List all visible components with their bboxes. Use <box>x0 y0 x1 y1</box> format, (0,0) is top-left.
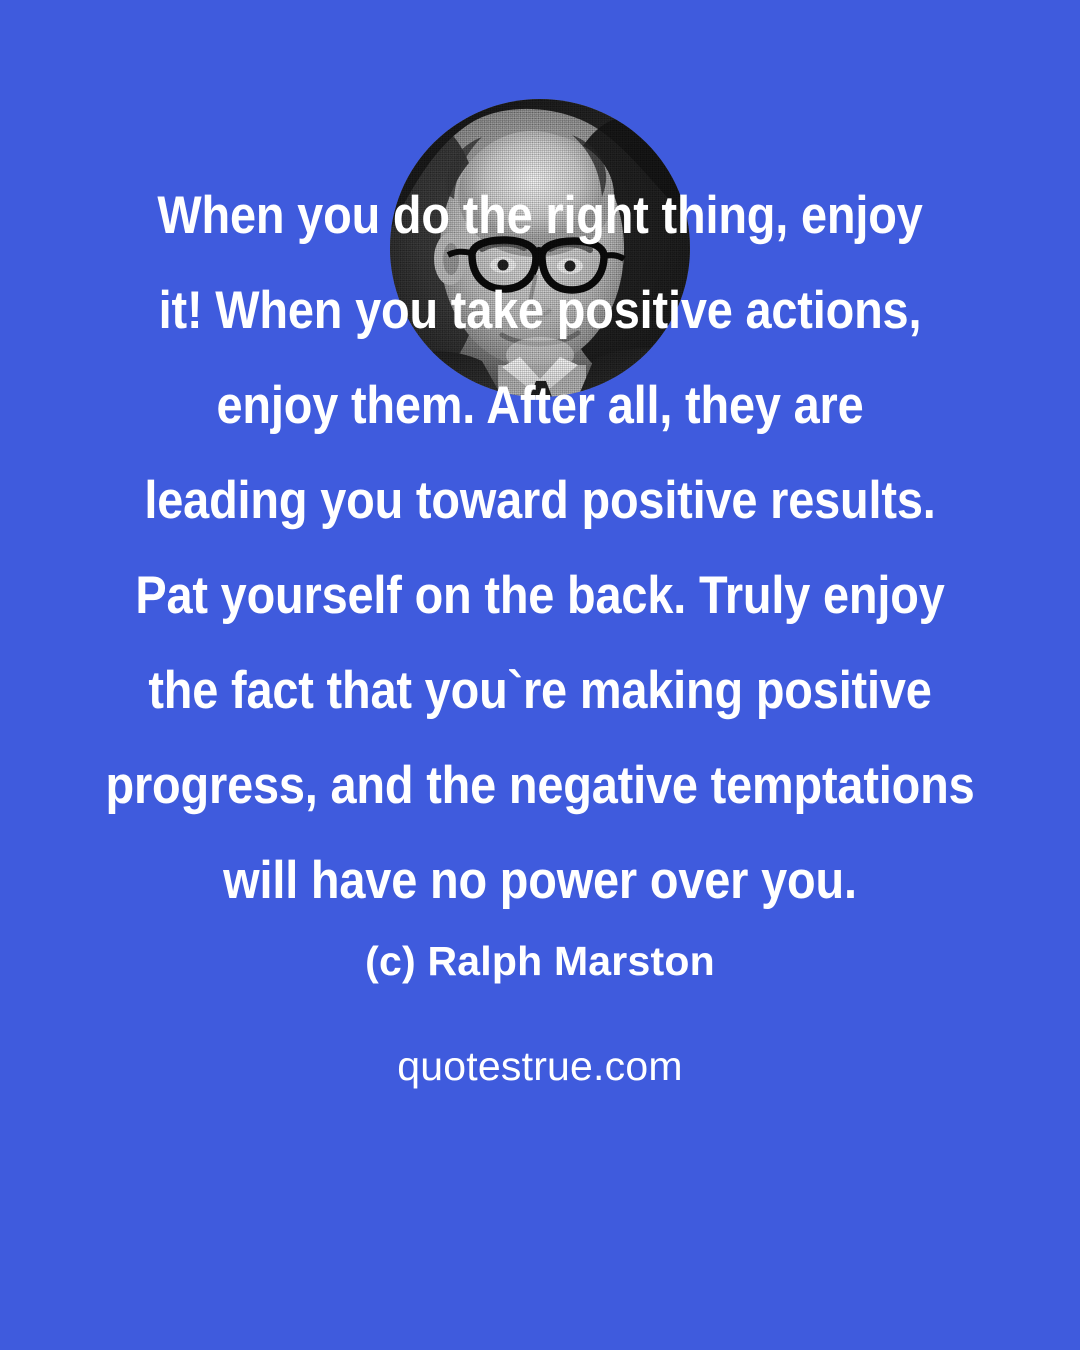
quote-attribution: (c) Ralph Marston <box>0 938 1080 985</box>
quote-poster: When you do the right thing, enjoy it! W… <box>0 0 1080 1350</box>
source-website: quotestrue.com <box>0 1043 1080 1090</box>
text-content: When you do the right thing, enjoy it! W… <box>0 0 1080 1350</box>
quote-text: When you do the right thing, enjoy it! W… <box>62 168 1018 928</box>
